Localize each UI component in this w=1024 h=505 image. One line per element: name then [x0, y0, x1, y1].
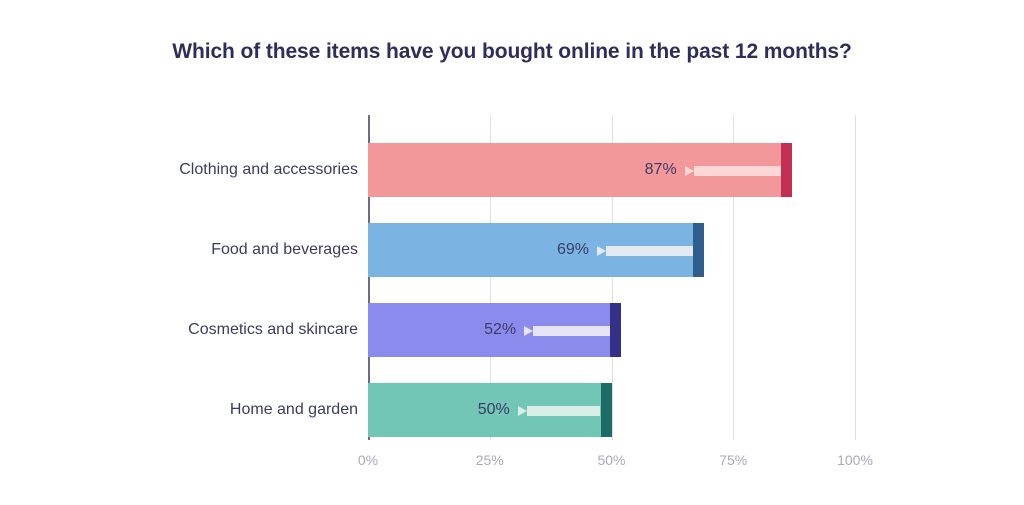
x-tick-label: 100%	[837, 452, 873, 468]
bar-chart: Which of these items have you bought onl…	[0, 0, 1024, 505]
bar-arrow-indicator	[524, 326, 610, 336]
bar-arrow-point	[518, 406, 527, 416]
bar-arrow-indicator	[597, 246, 693, 256]
category-label: Food and beverages	[211, 241, 358, 259]
bar-arrow-band	[533, 326, 610, 336]
bar-end-cap	[610, 303, 621, 357]
x-tick-label: 50%	[597, 452, 625, 468]
bar-arrow-indicator	[518, 406, 601, 416]
category-label: Home and garden	[230, 401, 358, 419]
x-tick-label: 25%	[476, 452, 504, 468]
bar-value-label: 69%	[557, 241, 589, 259]
bar-row[interactable]: 50%	[368, 383, 612, 437]
bar-arrow-point	[524, 326, 533, 336]
bar-row[interactable]: 69%	[368, 223, 704, 277]
bar-row[interactable]: 87%	[368, 143, 792, 197]
bar-end-cap	[781, 143, 792, 197]
bar-value-label: 50%	[478, 401, 510, 419]
bar-arrow-point	[685, 166, 694, 176]
bar-row[interactable]: 52%	[368, 303, 621, 357]
bar-end-cap	[693, 223, 704, 277]
bar-arrow-band	[694, 166, 781, 176]
bar-arrow-indicator	[685, 166, 781, 176]
chart-title: Which of these items have you bought onl…	[0, 40, 1024, 64]
bar-value-label: 87%	[645, 161, 677, 179]
category-label: Cosmetics and skincare	[188, 321, 358, 339]
bar-value-label: 52%	[484, 321, 516, 339]
bar-arrow-point	[597, 246, 606, 256]
gridline	[855, 115, 856, 440]
bar-arrow-band	[606, 246, 693, 256]
x-tick-label: 0%	[358, 452, 378, 468]
category-label: Clothing and accessories	[179, 161, 358, 179]
x-tick-label: 75%	[719, 452, 747, 468]
bar-arrow-band	[527, 406, 601, 416]
bar-end-cap	[601, 383, 612, 437]
